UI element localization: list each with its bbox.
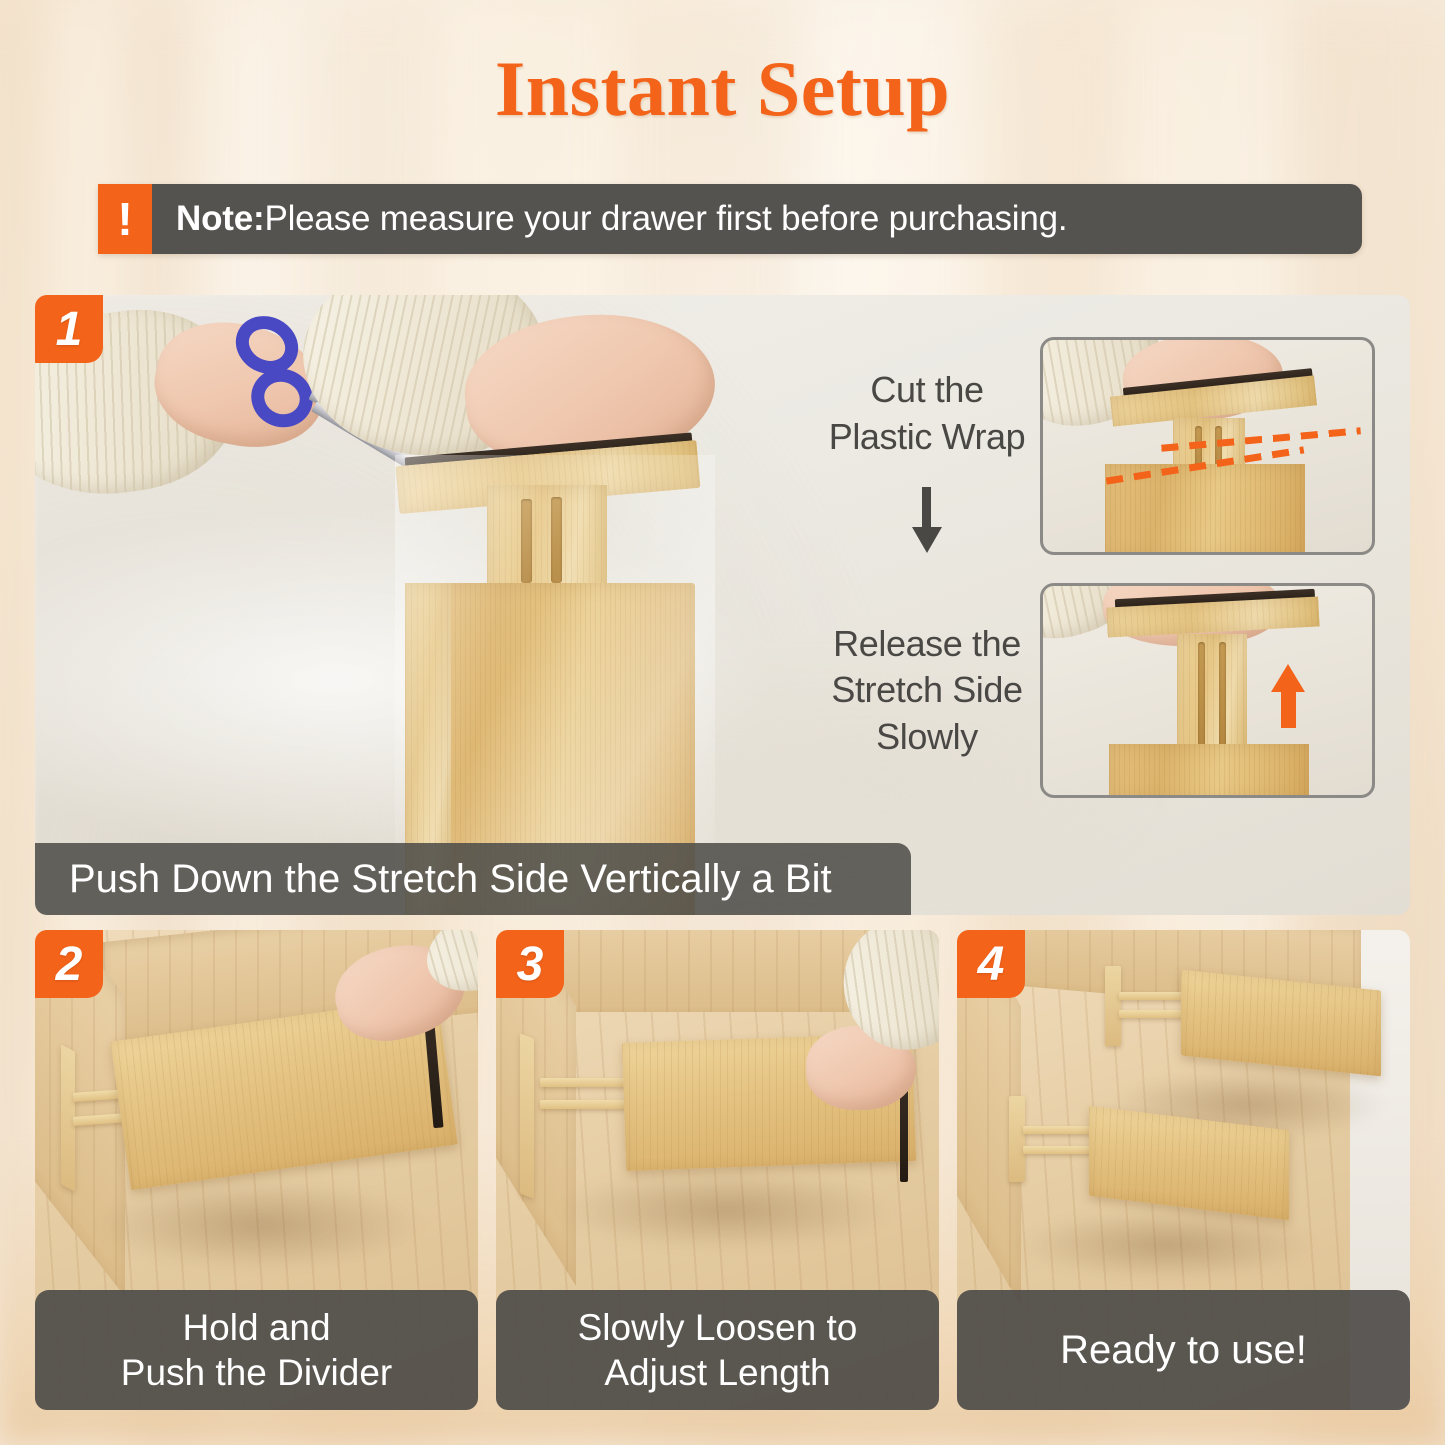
step-caption-1: Push Down the Stretch Side Vertically a … xyxy=(35,843,911,915)
release-text-line1: Release the xyxy=(777,621,1077,668)
inset-release-up xyxy=(1040,583,1375,798)
step-1-instructions: Cut the Plastic Wrap Release the Stretch… xyxy=(777,367,1077,761)
step-1-photo: Cut the Plastic Wrap Release the Stretch… xyxy=(35,295,1410,915)
step-caption-2-line1: Hold and xyxy=(182,1305,330,1350)
divider-shadow-3 xyxy=(556,1170,896,1250)
step-panel-3: 3 Slowly Loosen to Adjust Length xyxy=(496,930,939,1410)
note-message: Please measure your drawer first before … xyxy=(264,199,1067,239)
step-caption-4-line1: Ready to use! xyxy=(1060,1326,1307,1375)
inset-b-slot-1 xyxy=(1198,642,1205,754)
note-banner-text: Note: Please measure your drawer first b… xyxy=(152,184,1362,254)
divider-left-foot-3 xyxy=(520,1033,534,1199)
step-caption-3: Slowly Loosen to Adjust Length xyxy=(496,1290,939,1410)
cut-text-line2: Plastic Wrap xyxy=(777,414,1077,461)
inset-b-board xyxy=(1109,744,1309,798)
release-text-line3: Slowly xyxy=(777,714,1077,761)
step-badge-1: 1 xyxy=(35,295,103,363)
divider-shadow-2 xyxy=(95,1180,425,1270)
infographic-page: Instant Setup ! Note: Please measure you… xyxy=(0,0,1445,1445)
step-caption-3-line2: Adjust Length xyxy=(604,1350,830,1395)
step-caption-2: Hold and Push the Divider xyxy=(35,1290,478,1410)
down-arrow-icon xyxy=(907,487,947,553)
inset-b-slot-2 xyxy=(1219,642,1226,754)
step-caption-4: Ready to use! xyxy=(957,1290,1410,1410)
inset-press-down xyxy=(1040,337,1375,555)
divider-slot-1 xyxy=(521,499,532,583)
divider-slot-2 xyxy=(551,497,562,583)
exclamation-mark-icon: ! xyxy=(98,184,152,254)
step-panel-2: 2 Hold and Push the Divider xyxy=(35,930,478,1410)
step-badge-3: 3 xyxy=(496,930,564,998)
note-label: Note: xyxy=(176,199,264,239)
step-caption-3-line1: Slowly Loosen to xyxy=(578,1305,858,1350)
step-caption-2-line2: Push the Divider xyxy=(121,1350,392,1395)
step-panel-4: 4 Ready to use! xyxy=(957,930,1410,1410)
step-badge-2: 2 xyxy=(35,930,103,998)
step-badge-4: 4 xyxy=(957,930,1025,998)
divider-shadow-4b xyxy=(1017,1210,1317,1280)
note-banner: ! Note: Please measure your drawer first… xyxy=(98,184,1362,254)
release-text-line2: Stretch Side xyxy=(777,667,1077,714)
orange-up-arrow-icon xyxy=(1271,664,1305,728)
cut-text-line1: Cut the xyxy=(777,367,1077,414)
divider-foot-4a xyxy=(1105,966,1121,1046)
divider-foot-4b xyxy=(1009,1096,1025,1182)
step-panel-1: Cut the Plastic Wrap Release the Stretch… xyxy=(35,295,1410,915)
page-title: Instant Setup xyxy=(0,44,1445,134)
